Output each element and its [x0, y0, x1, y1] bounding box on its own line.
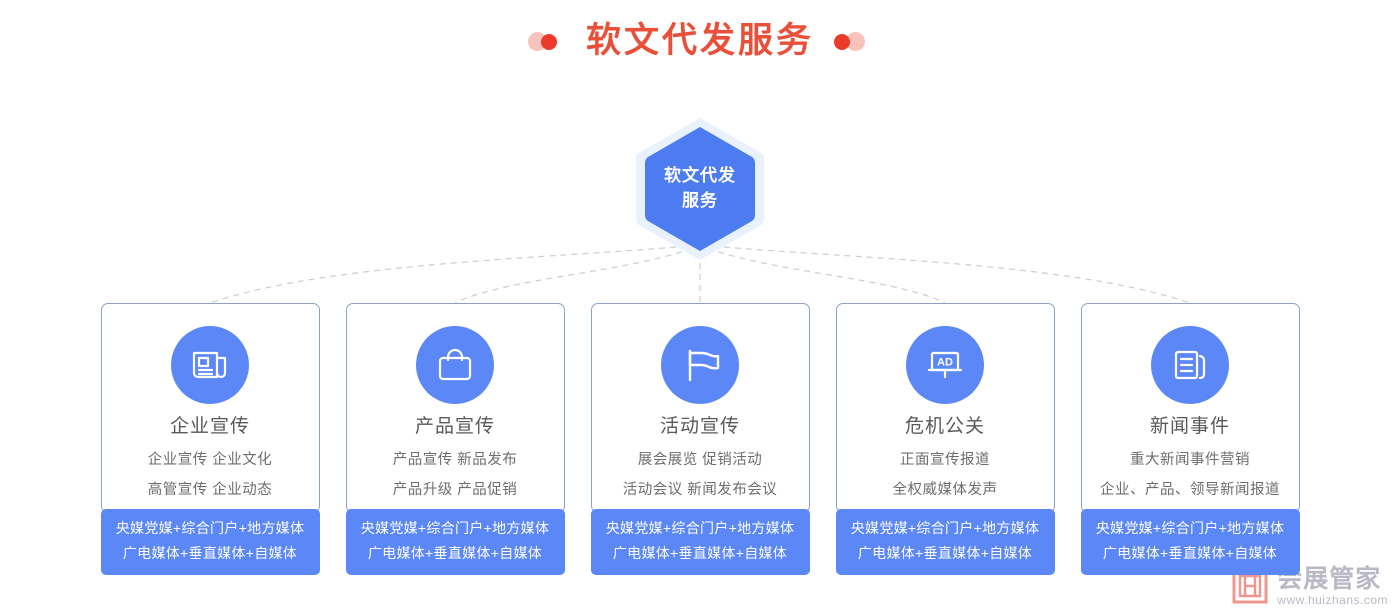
- card-footer: 央媒党媒+综合门户+地方媒体 广电媒体+垂直媒体+自媒体: [836, 509, 1055, 575]
- card-footer: 央媒党媒+综合门户+地方媒体 广电媒体+垂直媒体+自媒体: [1081, 509, 1300, 575]
- flag-icon: [661, 326, 739, 404]
- card-footer-line-1: 央媒党媒+综合门户+地方媒体: [591, 516, 810, 541]
- card-subtitle-1: 展会展览 促销活动: [638, 448, 763, 469]
- service-card-news[interactable]: 新闻事件 重大新闻事件营销 企业、产品、领导新闻报道 央媒党媒+综合门户+地方媒…: [1081, 303, 1300, 575]
- card-footer-line-2: 广电媒体+垂直媒体+自媒体: [591, 541, 810, 566]
- decor-dots-right-icon: [832, 28, 872, 52]
- card-title: 产品宣传: [415, 416, 495, 439]
- card-footer-line-1: 央媒党媒+综合门户+地方媒体: [836, 516, 1055, 541]
- card-subtitle-2: 产品升级 产品促销: [393, 478, 518, 499]
- card-footer-line-2: 广电媒体+垂直媒体+自媒体: [101, 541, 320, 566]
- newspaper-icon: [171, 326, 249, 404]
- card-footer-line-2: 广电媒体+垂直媒体+自媒体: [1081, 541, 1300, 566]
- card-subtitle-2: 全权威媒体发声: [893, 478, 998, 499]
- hub-label: 软文代发 服务: [634, 116, 766, 262]
- hub-label-line1: 软文代发: [664, 164, 736, 189]
- card-subtitle-1: 重大新闻事件营销: [1130, 448, 1250, 469]
- card-footer: 央媒党媒+综合门户+地方媒体 广电媒体+垂直媒体+自媒体: [346, 509, 565, 575]
- card-footer-line-1: 央媒党媒+综合门户+地方媒体: [101, 516, 320, 541]
- service-cards-row: 企业宣传 企业宣传 企业文化 高管宣传 企业动态 央媒党媒+综合门户+地方媒体 …: [0, 303, 1400, 575]
- ad-billboard-icon: AD: [906, 326, 984, 404]
- card-footer-line-2: 广电媒体+垂直媒体+自媒体: [836, 541, 1055, 566]
- card-footer-line-1: 央媒党媒+综合门户+地方媒体: [1081, 516, 1300, 541]
- decor-dots-left-icon: [528, 28, 568, 52]
- card-footer: 央媒党媒+综合门户+地方媒体 广电媒体+垂直媒体+自媒体: [101, 509, 320, 575]
- card-subtitle-1: 产品宣传 新品发布: [393, 448, 518, 469]
- page-title: 软文代发服务: [586, 23, 814, 58]
- card-body: AD 危机公关 正面宣传报道 全权威媒体发声: [836, 303, 1055, 513]
- card-title: 企业宣传: [170, 416, 250, 439]
- card-title: 危机公关: [905, 416, 985, 439]
- decor-dot-solid: [541, 34, 557, 50]
- card-subtitle-1: 正面宣传报道: [900, 448, 990, 469]
- article-stack-icon: [1151, 326, 1229, 404]
- card-subtitle-2: 企业、产品、领导新闻报道: [1100, 478, 1280, 499]
- card-title: 活动宣传: [660, 416, 740, 439]
- card-subtitle-2: 活动会议 新闻发布会议: [623, 478, 778, 499]
- hub-hexagon: 软文代发 服务: [634, 116, 766, 262]
- card-footer: 央媒党媒+综合门户+地方媒体 广电媒体+垂直媒体+自媒体: [591, 509, 810, 575]
- card-body: 活动宣传 展会展览 促销活动 活动会议 新闻发布会议: [591, 303, 810, 513]
- page-header: 软文代发服务: [0, 14, 1400, 66]
- card-footer-line-1: 央媒党媒+综合门户+地方媒体: [346, 516, 565, 541]
- watermark-url: www.huizhans.com: [1277, 593, 1388, 607]
- service-card-crisis-pr[interactable]: AD 危机公关 正面宣传报道 全权威媒体发声 央媒党媒+综合门户+地方媒体 广电…: [836, 303, 1055, 575]
- decor-dot-solid: [834, 34, 850, 50]
- service-card-event[interactable]: 活动宣传 展会展览 促销活动 活动会议 新闻发布会议 央媒党媒+综合门户+地方媒…: [591, 303, 810, 575]
- connector-to-card-5: [713, 246, 1190, 303]
- card-body: 企业宣传 企业宣传 企业文化 高管宣传 企业动态: [101, 303, 320, 513]
- card-footer-line-2: 广电媒体+垂直媒体+自媒体: [346, 541, 565, 566]
- card-subtitle-1: 企业宣传 企业文化: [148, 448, 273, 469]
- card-body: 新闻事件 重大新闻事件营销 企业、产品、领导新闻报道: [1081, 303, 1300, 513]
- card-title: 新闻事件: [1150, 416, 1230, 439]
- shopping-bag-icon: [416, 326, 494, 404]
- svg-text:AD: AD: [937, 357, 953, 369]
- connector-to-card-1: [210, 246, 687, 303]
- card-body: 产品宣传 产品宣传 新品发布 产品升级 产品促销: [346, 303, 565, 513]
- hub-label-line2: 服务: [682, 189, 718, 214]
- card-subtitle-2: 高管宣传 企业动态: [148, 478, 273, 499]
- service-card-enterprise[interactable]: 企业宣传 企业宣传 企业文化 高管宣传 企业动态 央媒党媒+综合门户+地方媒体 …: [101, 303, 320, 575]
- service-card-product[interactable]: 产品宣传 产品宣传 新品发布 产品升级 产品促销 央媒党媒+综合门户+地方媒体 …: [346, 303, 565, 575]
